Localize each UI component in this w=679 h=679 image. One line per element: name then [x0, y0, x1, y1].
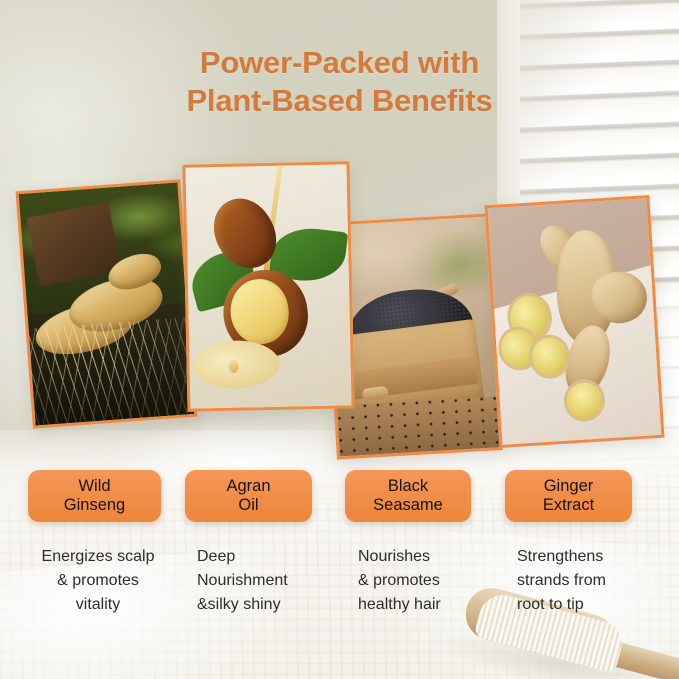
ingredient-description-ginseng: Energizes scalp & promotes vitality [28, 545, 168, 617]
ingredient-description-ginger: Strengthens strands from root to tip [517, 545, 662, 617]
infographic-canvas: Power-Packed with Plant-Based Benefits [0, 0, 679, 679]
ingredient-description-row: Energizes scalp & promotes vitality Deep… [0, 0, 679, 679]
ingredient-description-argan: Deep Nourishment &silky shiny [197, 545, 337, 617]
ingredient-description-sesame: Nourishes & promotes healthy hair [358, 545, 498, 617]
